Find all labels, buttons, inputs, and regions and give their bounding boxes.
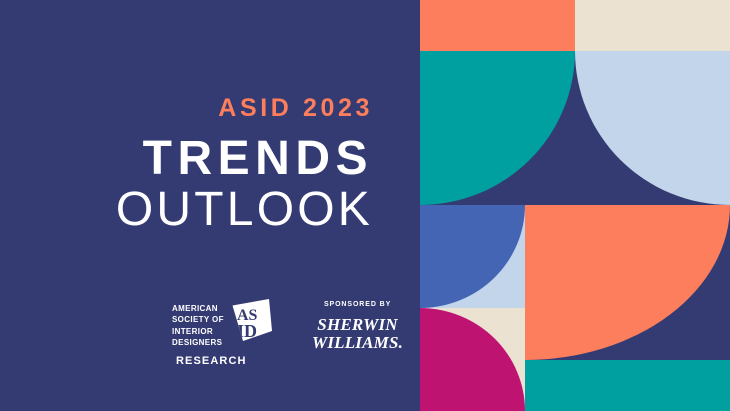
sponsor-name-line-2: WILLIAMS.	[312, 334, 403, 352]
sponsor-name: SHERWIN WILLIAMS.	[312, 316, 403, 352]
asid-org-line-1: AMERICAN	[172, 303, 224, 314]
geometric-pattern	[420, 0, 730, 411]
page-title-line-1: TRENDS	[0, 135, 375, 184]
cream-rect-top-right	[575, 0, 730, 51]
light-blue-quarter-circle	[575, 51, 730, 205]
page-title-line-2: OUTLOOK	[0, 184, 375, 236]
sponsored-by-label: SPONSORED BY	[312, 301, 403, 308]
teal-quarter-circle	[420, 51, 575, 205]
title-block: ASID 2023 TRENDS OUTLOOK	[0, 96, 375, 236]
teal-rect-bottom	[525, 360, 730, 411]
eyebrow-label: ASID 2023	[0, 96, 375, 121]
asid-org-name: AMERICAN SOCIETY OF INTERIOR DESIGNERS	[172, 297, 224, 348]
svg-text:ID: ID	[237, 321, 257, 341]
sponsor-block: SPONSORED BY SHERWIN WILLIAMS.	[312, 297, 403, 352]
coral-rect-top-left	[420, 0, 575, 51]
asid-division-label: RESEARCH	[172, 355, 290, 367]
asid-logo: AMERICAN SOCIETY OF INTERIOR DESIGNERS	[172, 297, 290, 367]
asid-org-line-3: INTERIOR	[172, 326, 224, 337]
asid-trends-outlook-cover: ASID 2023 TRENDS OUTLOOK AMERICAN SOCIET…	[0, 0, 730, 411]
asid-logo-mark-icon: AS ID	[229, 297, 275, 343]
coral-half-circle-right	[525, 205, 730, 360]
left-text-panel: ASID 2023 TRENDS OUTLOOK AMERICAN SOCIET…	[0, 0, 420, 411]
logo-row: AMERICAN SOCIETY OF INTERIOR DESIGNERS	[172, 297, 403, 367]
asid-org-line-4: DESIGNERS	[172, 337, 224, 348]
asid-org-line-2: SOCIETY OF	[172, 314, 224, 325]
asid-logo-top: AMERICAN SOCIETY OF INTERIOR DESIGNERS	[172, 297, 290, 348]
sponsor-name-line-1: SHERWIN	[312, 316, 403, 334]
